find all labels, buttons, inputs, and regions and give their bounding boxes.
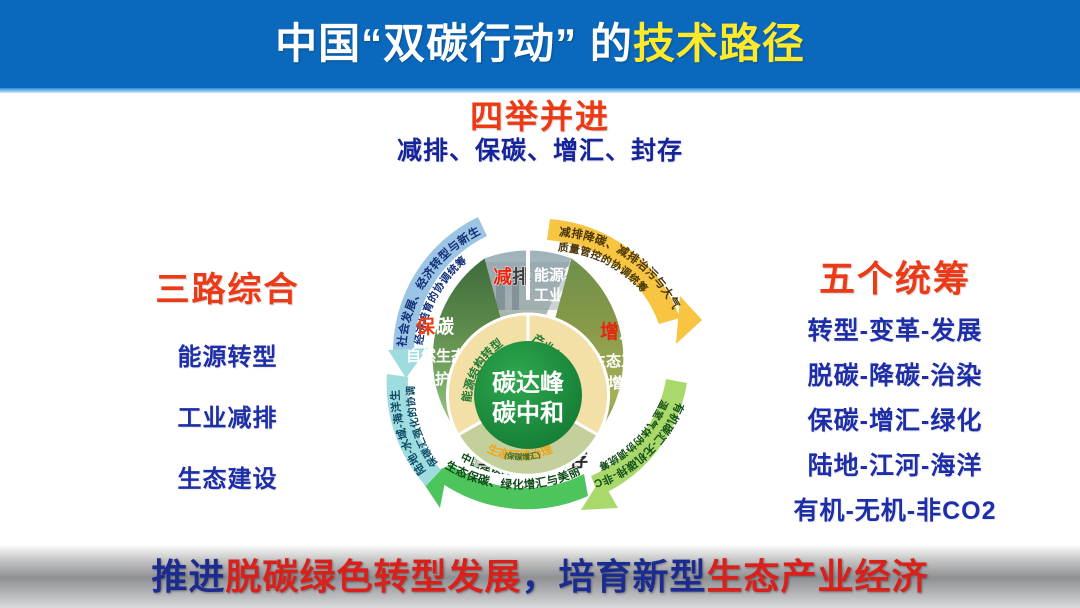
bottom-seg-1: 推进 <box>151 556 225 597</box>
page-title-highlight: 技术路径 <box>633 20 805 67</box>
center-line-2: 碳中和 <box>492 400 564 427</box>
bottom-banner-text: 推进脱碳绿色转型发展，培育新型生态产业经济 <box>151 559 928 595</box>
quadrant-left-line2: 保护 <box>419 370 450 388</box>
carbon-strategy-diagram: 社会发展、经济转型与新生态 经济培育的协调统筹 减排降碳、减排治污与大气 质量管… <box>288 178 798 538</box>
quadrant-right-line2: 增汇 <box>608 374 638 392</box>
bottom-seg-4: 生态产业经济 <box>707 556 929 597</box>
page-title: 中国“双碳行动” 的技术路径 <box>275 23 805 65</box>
top-heading-block: 四举并进 减排、保碳、增汇、封存 <box>0 100 1080 164</box>
header-bar: 中国“双碳行动” 的技术路径 <box>0 0 1080 88</box>
bottom-banner: 推进脱碳绿色转型发展，培育新型生态产业经济 <box>0 545 1080 608</box>
page-title-part-2: 的 <box>577 20 633 67</box>
header-underline <box>0 88 1080 93</box>
page-title-part-1: 中国“双碳行动” <box>275 20 577 67</box>
quadrant-top-keyword-red: 减 <box>493 265 512 288</box>
bottom-seg-2: 脱碳绿色转型发展 <box>225 556 521 597</box>
top-heading-title: 四举并进 <box>0 100 1080 135</box>
top-heading-subtitle: 减排、保碳、增汇、封存 <box>0 138 1080 164</box>
quadrant-right-keyword-white: 汇 <box>619 321 638 343</box>
quadrant-left-keyword-white: 碳 <box>435 315 455 338</box>
quadrant-right-keyword-red: 增 <box>600 320 619 343</box>
center-node: 碳达峰 碳中和 <box>474 341 582 449</box>
center-line-1: 碳达峰 <box>492 369 564 397</box>
quadrant-left-keyword-red: 保 <box>415 315 436 338</box>
bottom-seg-3: ，培育新型 <box>522 556 707 597</box>
